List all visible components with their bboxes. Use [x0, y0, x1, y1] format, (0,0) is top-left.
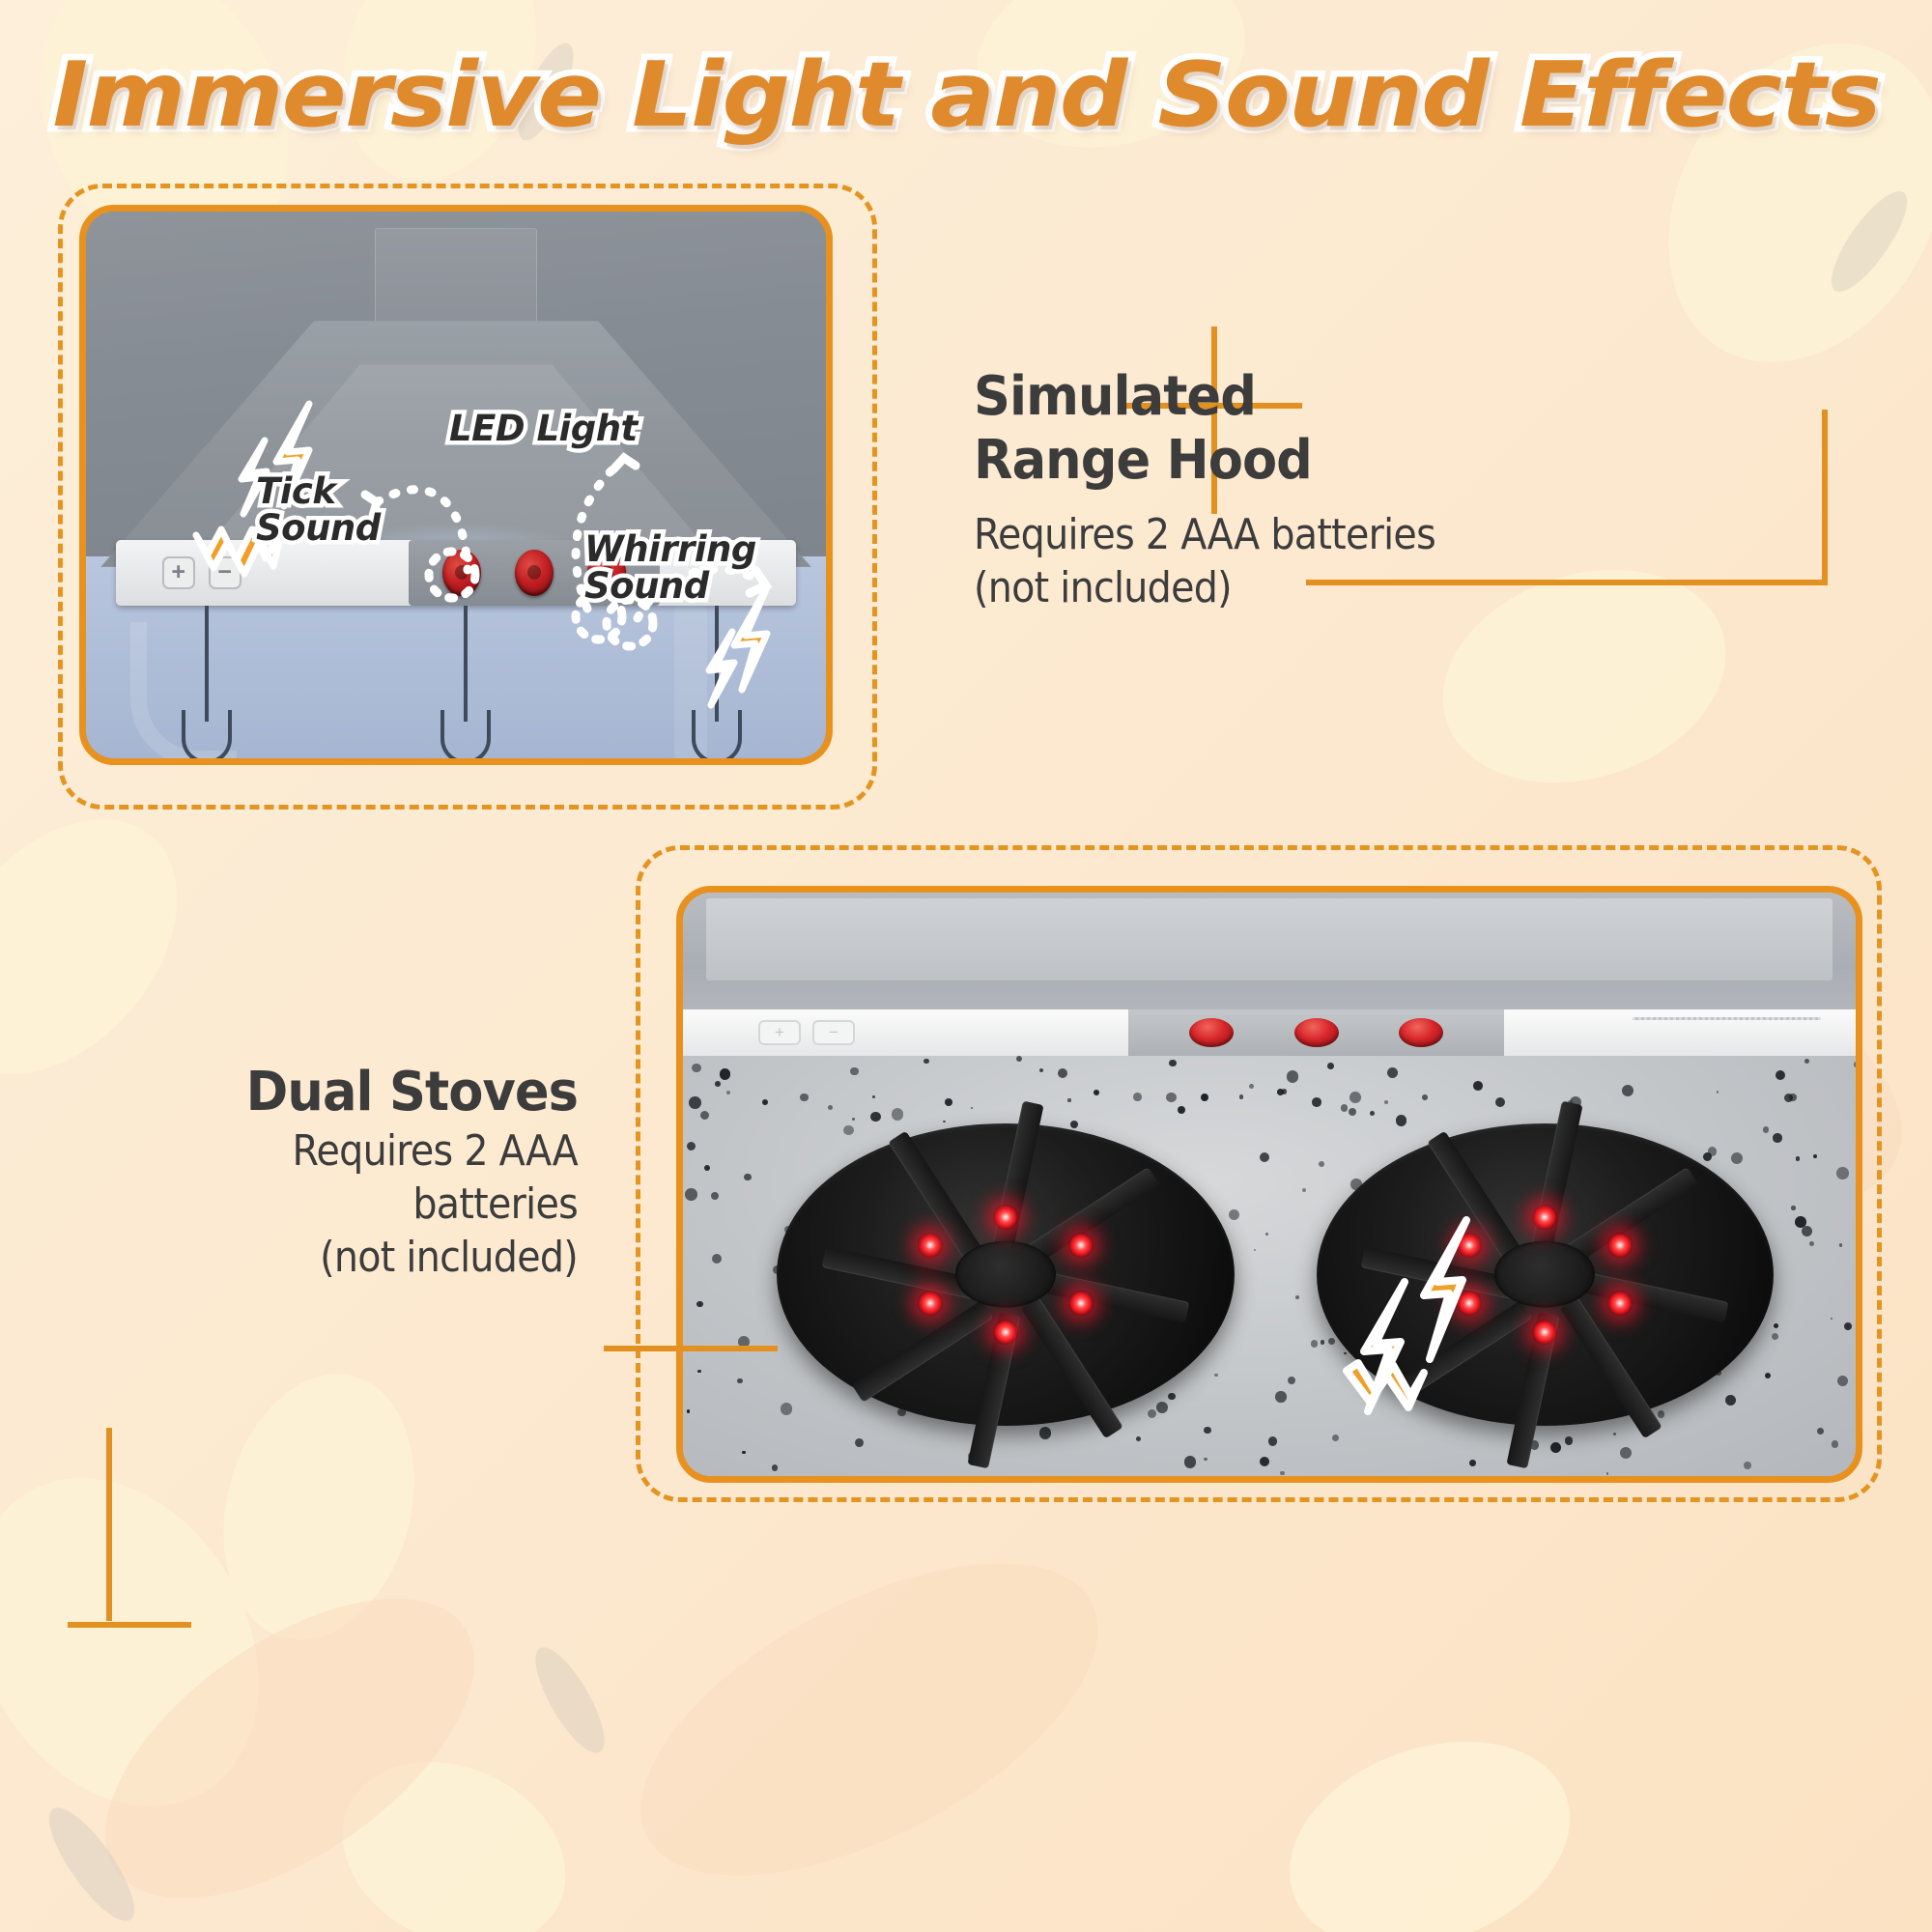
stove-backsplash: [706, 898, 1832, 980]
cooktop-speck: [1839, 1243, 1843, 1247]
burner-led: [918, 1291, 943, 1316]
cooktop-speck: [1774, 1323, 1778, 1328]
stove-knob[interactable]: [1189, 1018, 1234, 1047]
feature-heading: Simulated Range Hood: [974, 365, 1456, 493]
cooktop-speck: [704, 1165, 710, 1171]
cooktop-speck: [1067, 1098, 1070, 1101]
left-burner[interactable]: [777, 1123, 1234, 1426]
cooktop-speck: [1613, 1433, 1616, 1435]
cooktop-speck: [1016, 1056, 1022, 1062]
cooktop-speck: [687, 1409, 691, 1413]
cooktop-speck: [1349, 1108, 1356, 1116]
cooktop-speck: [1094, 1090, 1099, 1095]
cooktop-speck: [1260, 1457, 1269, 1466]
hood-chimney: [375, 228, 538, 337]
cooktop-speck: [1796, 1156, 1801, 1161]
cooktop-speck: [1249, 1084, 1254, 1089]
cooktop-speck: [1658, 1410, 1665, 1418]
cooktop-speck: [1280, 1471, 1285, 1476]
stove-deco-cross-horizontal: [68, 1622, 191, 1628]
burner-led: [1532, 1205, 1557, 1230]
cooktop-speck: [855, 1438, 864, 1447]
stove-knob[interactable]: [1399, 1018, 1443, 1047]
cooktop-speck: [1813, 1154, 1817, 1158]
cooktop-speck: [1370, 1111, 1375, 1116]
cooktop-speck: [1387, 1067, 1398, 1078]
hood-hook: [205, 606, 209, 722]
cooktop-speck: [1832, 1440, 1838, 1447]
cooktop-speck: [1295, 1295, 1300, 1300]
cooktop-speck: [1254, 1249, 1256, 1251]
feature-simulated-range-hood: Simulated Range Hood Requires 2 AAA batt…: [974, 365, 1487, 614]
cooktop-speck: [1763, 1126, 1770, 1133]
burner-led: [1532, 1320, 1557, 1345]
cooktop-speck: [712, 1254, 723, 1264]
cooktop-speck: [1282, 1089, 1288, 1094]
cooktop-speck: [1725, 1395, 1736, 1406]
burner-led: [1607, 1291, 1633, 1316]
cooktop-speck: [1791, 1206, 1796, 1210]
cooktop-speck: [892, 1108, 904, 1121]
cooktop-speck: [1229, 1209, 1240, 1221]
cooktop-speck: [1275, 1391, 1286, 1402]
cooktop-speck: [1287, 1070, 1299, 1083]
cooktop-speck: [737, 1378, 742, 1383]
hood-deco-corner-vertical: [1822, 410, 1828, 585]
cooktop-speck: [1327, 1063, 1334, 1069]
feature-heading: Dual Stoves: [124, 1061, 578, 1124]
cooktop-speck: [711, 1192, 719, 1200]
cooktop-speck: [1844, 1322, 1852, 1330]
cooktop-speck: [1717, 1091, 1719, 1094]
burner-spoke: [1573, 1270, 1729, 1323]
cooktop-speck: [1765, 1373, 1771, 1378]
burner-led: [1068, 1291, 1094, 1316]
cooktop-speck: [852, 1118, 855, 1121]
stove-minus-button[interactable]: −: [812, 1020, 855, 1045]
cooktop-speck: [781, 1403, 793, 1415]
cooktop-speck: [1311, 1340, 1318, 1347]
cooktop-speck: [1178, 1106, 1185, 1114]
burner-hub: [955, 1241, 1056, 1308]
stove-cooktop-surface: [683, 1056, 1856, 1476]
panel-solid-border: + −: [676, 886, 1862, 1483]
burner-spoke: [990, 1101, 1043, 1258]
cooktop-speck: [1201, 1094, 1208, 1101]
cooktop-speck: [772, 1464, 779, 1471]
cooktop-speck: [1341, 1104, 1348, 1111]
cooktop-speck: [1350, 1092, 1361, 1103]
cooktop-speck: [1260, 1152, 1269, 1162]
burner-spoke: [1530, 1101, 1583, 1258]
cooktop-speck: [1319, 1161, 1325, 1168]
cooktop-speck: [1495, 1097, 1506, 1108]
feature-subtext: Requires 2 AAA batteries (not included): [143, 1124, 578, 1284]
cooktop-speck: [1854, 1062, 1859, 1066]
stove-vent-grille: [1633, 1017, 1820, 1019]
cooktop-speck: [1136, 1436, 1141, 1441]
cooktop-speck: [1321, 1340, 1325, 1345]
cooktop-speck: [1772, 1333, 1778, 1340]
cooktop-speck: [692, 1064, 700, 1072]
cooktop-speck: [1469, 1460, 1476, 1466]
cooktop-speck: [1268, 1436, 1277, 1445]
cooktop-speck: [762, 1099, 769, 1106]
cooktop-speck: [850, 1067, 859, 1076]
stove-plus-button[interactable]: +: [758, 1020, 801, 1045]
cooktop-speck: [720, 1068, 730, 1079]
burner-spoke: [1021, 1297, 1123, 1439]
cooktop-speck: [1328, 1338, 1335, 1345]
callout-tick-sound: Tick Sound: [256, 473, 381, 546]
feature-subtext: Requires 2 AAA batteries (not included): [974, 508, 1435, 614]
burner-spoke: [1560, 1297, 1662, 1439]
burner-spoke: [1033, 1270, 1189, 1323]
cooktop-speck: [1606, 1472, 1608, 1474]
hood-hook: [464, 606, 468, 722]
cooktop-speck: [700, 1111, 710, 1121]
stove-deco-corner-horizontal: [604, 1346, 778, 1351]
cooktop-speck: [923, 1059, 928, 1064]
burner-led: [918, 1233, 943, 1258]
cooktop-speck: [1288, 1377, 1295, 1384]
cooktop-speck: [1817, 1428, 1824, 1435]
cooktop-speck: [1148, 1409, 1156, 1418]
cooktop-speck: [1156, 1402, 1168, 1413]
cooktop-speck: [1058, 1068, 1067, 1078]
cooktop-speck: [1265, 1233, 1268, 1236]
dual-stoves-photo-panel: + −: [636, 845, 1882, 1502]
cooktop-speck: [1184, 1456, 1197, 1468]
burner-led: [1607, 1233, 1633, 1258]
cooktop-speck: [1620, 1447, 1633, 1460]
cooktop-speck: [870, 1112, 880, 1122]
cooktop-speck: [689, 1096, 701, 1109]
cooktop-speck: [685, 1188, 696, 1200]
cooktop-speck: [1731, 1152, 1744, 1165]
cooktop-speck: [1809, 1241, 1814, 1246]
cooktop-speck: [1802, 1226, 1812, 1236]
cooktop-speck: [1473, 1081, 1483, 1091]
cooktop-speck: [1708, 1147, 1717, 1155]
cooktop-speck: [1384, 1100, 1388, 1104]
cooktop-speck: [1166, 1093, 1177, 1103]
cooktop-speck: [1070, 1121, 1078, 1128]
stove-deco-cross-vertical: [106, 1428, 112, 1621]
cooktop-speck: [726, 1091, 730, 1094]
cooktop-speck: [1831, 1318, 1833, 1320]
page-title-container: Immersive Light and Sound Effects: [0, 37, 1932, 153]
feature-dual-stoves: Dual Stoves Requires 2 AAA batteries (no…: [95, 1061, 578, 1284]
cooktop-speck: [1332, 1435, 1339, 1441]
cooktop-speck: [742, 1451, 746, 1455]
burner-led: [993, 1205, 1018, 1230]
cooktop-speck: [1204, 1458, 1207, 1461]
cooktop-speck: [1039, 1068, 1043, 1072]
stove-knob-group: [1128, 1009, 1503, 1056]
cooktop-speck: [1169, 1060, 1176, 1066]
cooktop-speck: [1622, 1085, 1634, 1096]
cooktop-speck: [1550, 1442, 1561, 1453]
cooktop-speck: [697, 1370, 700, 1373]
cooktop-speck: [715, 1081, 721, 1087]
cooktop-speck: [1302, 1188, 1306, 1192]
cooktop-speck: [1836, 1167, 1849, 1179]
cooktop-speck: [800, 1094, 809, 1102]
dual-stoves-photo: + −: [683, 893, 1856, 1476]
stove-knob[interactable]: [1294, 1018, 1339, 1047]
page-title: Immersive Light and Sound Effects: [52, 43, 1880, 147]
cooktop-speck: [943, 1121, 946, 1123]
cooktop-speck: [1214, 1374, 1217, 1377]
cooktop-speck: [1168, 1393, 1176, 1401]
callout-led-light: LED Light: [449, 411, 638, 447]
burner-spoke: [852, 1300, 994, 1403]
cooktop-speck: [1804, 1059, 1809, 1064]
cooktop-speck: [1773, 1133, 1781, 1142]
cooktop-speck: [1312, 1097, 1321, 1107]
cooktop-speck: [744, 1174, 751, 1180]
cooktop-speck: [1396, 1115, 1407, 1126]
cooktop-speck: [1744, 1462, 1751, 1469]
stove-control-bar: + −: [683, 1009, 1856, 1056]
cooktop-speck: [1776, 1070, 1785, 1080]
hood-knob[interactable]: [515, 550, 554, 596]
cooktop-speck: [1422, 1094, 1428, 1100]
callout-whirring-sound: Whirring Sound: [584, 531, 756, 604]
cooktop-speck: [828, 1105, 833, 1110]
cooktop-speck: [872, 1095, 875, 1098]
stove-sound-lightning-icon: [1341, 1212, 1524, 1420]
cooktop-speck: [1204, 1427, 1211, 1435]
cooktop-speck: [843, 1125, 854, 1136]
cooktop-speck: [1565, 1436, 1573, 1444]
cooktop-speck: [696, 1301, 703, 1308]
cooktop-speck: [1039, 1427, 1051, 1438]
burner-led: [1068, 1233, 1094, 1258]
hood-knob[interactable]: [442, 550, 481, 596]
cooktop-speck: [1133, 1093, 1142, 1101]
cooktop-speck: [1837, 1376, 1848, 1386]
burner-led: [993, 1320, 1018, 1345]
cooktop-speck: [1239, 1094, 1244, 1099]
cooktop-speck: [687, 1142, 696, 1151]
cooktop-speck: [971, 1107, 973, 1109]
cooktop-speck: [945, 1098, 952, 1106]
